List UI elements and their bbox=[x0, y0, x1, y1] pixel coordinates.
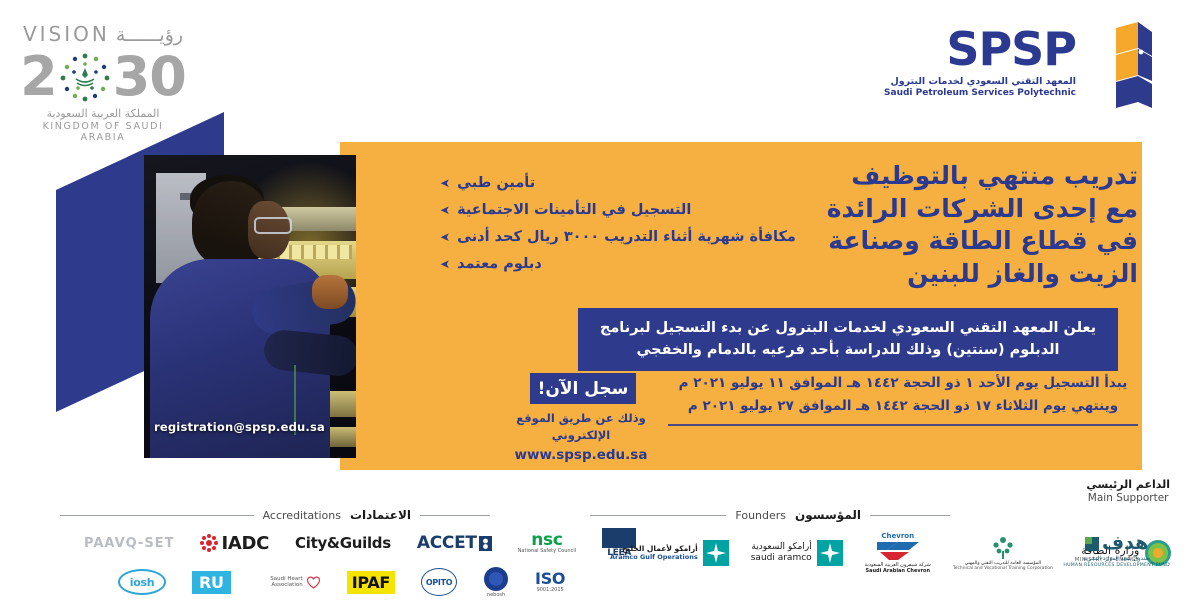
dates-divider bbox=[668, 424, 1138, 426]
rule-left bbox=[590, 515, 726, 516]
vision-word-ar: رؤيــــــة bbox=[116, 24, 183, 46]
rule-right bbox=[420, 515, 490, 516]
accreditation-logos-row-2: iosh RU Saudi Heart Association IPAF OPI… bbox=[118, 566, 565, 598]
headline-line-1: تدريب منتهي بالتوظيف bbox=[818, 160, 1138, 193]
vision-year: 2 bbox=[28, 48, 178, 106]
arrow-bullet-icon: ➤ bbox=[440, 226, 450, 248]
vision-word-en: VISION bbox=[23, 22, 110, 46]
benefit-item: التسجيل في التأمينات الاجتماعية ➤ bbox=[440, 197, 800, 224]
aramco-star-icon bbox=[703, 540, 729, 566]
iadc-logo: IADC bbox=[200, 533, 269, 554]
accreditations-label-en: Accreditations bbox=[263, 509, 341, 522]
accet-mark-icon bbox=[479, 536, 492, 551]
nebosh-seal-icon bbox=[483, 566, 509, 592]
iadc-star-icon bbox=[200, 534, 218, 552]
hrdf-hadaf-logo: هدف صندوق تنمية الموارد البشرية HUMAN RE… bbox=[1063, 532, 1170, 568]
spsp-wordmark: SPSP bbox=[884, 28, 1076, 72]
technician-photo: registration@spsp.edu.sa bbox=[144, 155, 356, 458]
main-supporter-label-en: Main Supporter bbox=[1086, 492, 1170, 505]
spsp-logo: SPSP المعهد التقني السعودي لخدمات البترو… bbox=[884, 22, 1152, 108]
spsp-name-ar: المعهد التقني السعودي لخدمات البترول bbox=[884, 76, 1076, 87]
tvtc-logo: المؤسسة العامة للتدريب التقني والمهني Te… bbox=[953, 535, 1053, 572]
announcement-line-2: الدبلوم (سنتين) وذلك للدراسة بأحد فرعيه … bbox=[590, 339, 1106, 361]
arrow-bullet-icon: ➤ bbox=[440, 253, 450, 275]
register-note-text: وذلك عن طريق الموقع الإلكتروني bbox=[506, 410, 656, 445]
nebosh-logo: nebosh bbox=[483, 566, 509, 598]
accet-logo: ACCET bbox=[417, 533, 492, 553]
benefit-label: تأمين طبي bbox=[457, 170, 535, 197]
poster-canvas: VISION رؤيــــــة 2 bbox=[0, 0, 1200, 600]
saudi-arabian-chevron-logo: Chevron شركة شيفرون العربية السعودية Sau… bbox=[865, 532, 931, 574]
vision-wordmark: VISION رؤيــــــة bbox=[28, 22, 178, 46]
rule-right bbox=[870, 515, 950, 516]
website-url[interactable]: www.spsp.edu.sa bbox=[506, 445, 656, 465]
date-start: يبدأ التسجيل يوم الأحد ١ ذو الحجة ١٤٤٢ ه… bbox=[668, 372, 1138, 395]
register-note: وذلك عن طريق الموقع الإلكتروني www.spsp.… bbox=[506, 410, 656, 465]
nsc-sublabel: National Safety Council bbox=[518, 549, 576, 554]
vision-year-left: 2 bbox=[20, 50, 57, 104]
iso-sublabel: 9001:2015 bbox=[537, 588, 564, 593]
hadaf-mark-icon bbox=[1085, 537, 1099, 551]
main-supporter-label-ar: الداعم الرئيسي bbox=[1086, 478, 1170, 492]
accreditation-logos-row-1: PAAVQ-SET IADC City&Guilds ACCET nsc Nat… bbox=[84, 528, 636, 558]
ipaf-logo: IPAF bbox=[347, 571, 395, 594]
founders-heading: Founders المؤسسون bbox=[590, 508, 950, 522]
heart-icon bbox=[306, 575, 321, 589]
paa-vq-set-logo: PAAVQ-SET bbox=[84, 536, 174, 551]
palm-and-swords-icon bbox=[58, 50, 112, 104]
vision-kingdom-ar: المملكة العربية السعودية bbox=[28, 107, 178, 120]
opito-logo: OPITO bbox=[421, 568, 457, 596]
spsp-cube-icon bbox=[1086, 22, 1152, 108]
main-supporter-heading: الداعم الرئيسي Main Supporter bbox=[1086, 478, 1170, 505]
benefit-label: دبلوم معتمد bbox=[457, 251, 542, 278]
city-guilds-logo: City&Guilds bbox=[295, 536, 391, 550]
founders-label-en: Founders bbox=[735, 509, 786, 522]
footer: Accreditations الاعتمادات PAAVQ-SET IADC… bbox=[0, 470, 1200, 600]
headline: تدريب منتهي بالتوظيف مع إحدى الشركات الر… bbox=[818, 160, 1138, 290]
aramco-gulf-operations-logo: أرامكو لأعمال الخليج Aramco Gulf Operati… bbox=[610, 540, 729, 566]
nsc-logo: nsc National Safety Council bbox=[518, 532, 576, 554]
benefit-item: مكافأة شهرية أثناء التدريب ٣٠٠٠ ريال كحد… bbox=[440, 224, 800, 251]
iosh-logo: iosh bbox=[118, 569, 166, 595]
accreditations-label-ar: الاعتمادات bbox=[350, 508, 411, 522]
rospa-logo: RU bbox=[192, 571, 231, 594]
benefit-item: تأمين طبي ➤ bbox=[440, 170, 800, 197]
rule-left bbox=[60, 515, 254, 516]
accreditations-heading: Accreditations الاعتمادات bbox=[60, 508, 490, 522]
founders-label-ar: المؤسسون bbox=[795, 508, 861, 522]
saudi-heart-association-logo: Saudi Heart Association bbox=[257, 575, 321, 589]
arrow-bullet-icon: ➤ bbox=[440, 199, 450, 221]
headline-line-4: الزيت والغاز للبنين bbox=[818, 258, 1138, 291]
benefit-label: مكافأة شهرية أثناء التدريب ٣٠٠٠ ريال كحد… bbox=[457, 224, 796, 251]
registration-email: registration@spsp.edu.sa bbox=[154, 420, 325, 434]
chevron-mark-icon bbox=[877, 540, 919, 562]
spsp-logo-text: SPSP المعهد التقني السعودي لخدمات البترو… bbox=[884, 22, 1076, 98]
benefit-label: التسجيل في التأمينات الاجتماعية bbox=[457, 197, 691, 224]
benefits-list: تأمين طبي ➤ التسجيل في التأمينات الاجتما… bbox=[440, 170, 800, 278]
registration-dates: يبدأ التسجيل يوم الأحد ١ ذو الحجة ١٤٤٢ ه… bbox=[668, 372, 1138, 426]
announcement-line-1: يعلن المعهد التقني السعودي لخدمات البترو… bbox=[590, 317, 1106, 339]
headline-line-2: مع إحدى الشركات الرائدة bbox=[818, 193, 1138, 226]
tvtc-tree-icon bbox=[988, 535, 1018, 561]
iso-9001-logo: ISO 9001:2015 bbox=[535, 571, 565, 593]
date-end: وينتهي يوم الثلاثاء ١٧ ذو الحجة ١٤٤٢ هـ … bbox=[668, 395, 1138, 418]
announcement-banner: يعلن المعهد التقني السعودي لخدمات البترو… bbox=[578, 308, 1118, 371]
vision-year-right: 30 bbox=[113, 50, 186, 104]
arrow-bullet-icon: ➤ bbox=[440, 172, 450, 194]
aramco-star-icon bbox=[817, 540, 843, 566]
headline-line-3: في قطاع الطاقة وصناعة bbox=[818, 225, 1138, 258]
photo-illustration bbox=[144, 155, 356, 458]
vision-2030-logo: VISION رؤيــــــة 2 bbox=[28, 22, 178, 143]
saudi-aramco-logo: أرامكو السعودية saudi aramco bbox=[751, 540, 843, 566]
benefit-item: دبلوم معتمد ➤ bbox=[440, 251, 800, 278]
register-now-button[interactable]: سجل الآن! bbox=[530, 373, 636, 404]
vision-kingdom-en: KINGDOM OF SAUDI ARABIA bbox=[28, 121, 178, 143]
spsp-name-en: Saudi Petroleum Services Polytechnic bbox=[884, 88, 1076, 98]
